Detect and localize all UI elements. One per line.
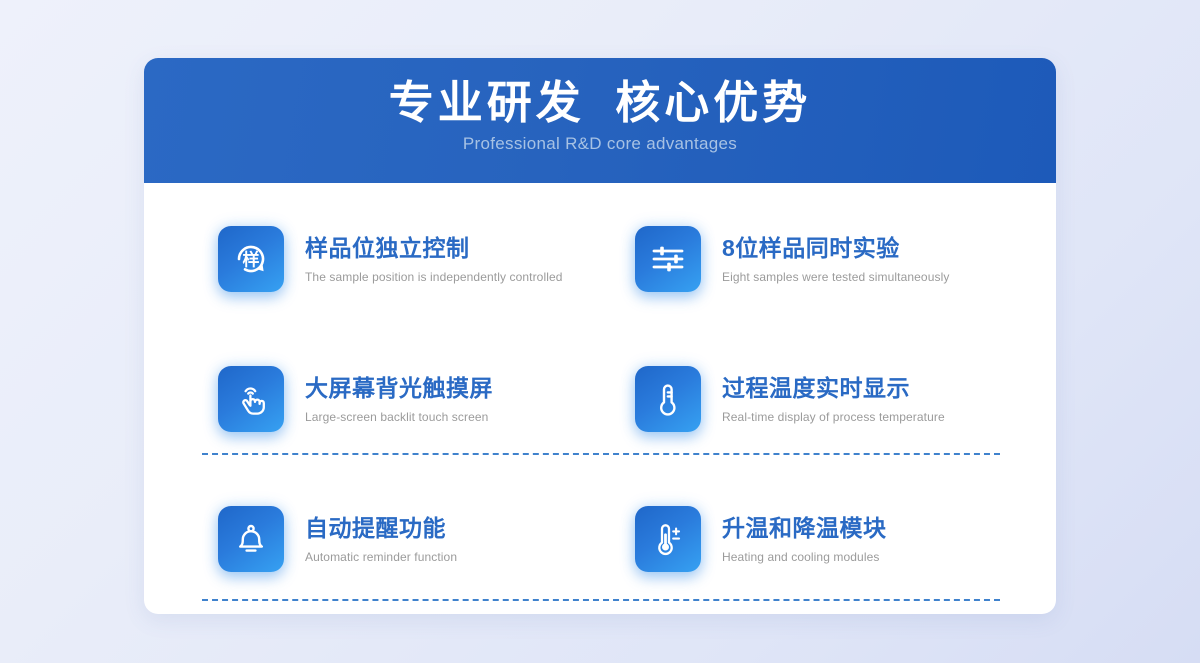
feature-item-heating-cooling[interactable]: 升温和降温模块 Heating and cooling modules <box>600 506 1056 572</box>
divider-2 <box>202 599 1000 601</box>
feature-title: 样品位独立控制 <box>305 234 563 263</box>
thermometer-plus-minus-icon <box>635 506 701 572</box>
svg-text:样: 样 <box>243 250 260 270</box>
feature-text: 8位样品同时实验 Eight samples were tested simul… <box>722 234 949 284</box>
feature-subtitle: Large-screen backlit touch screen <box>305 410 493 424</box>
feature-text: 自动提醒功能 Automatic reminder function <box>305 514 457 564</box>
feature-text: 过程温度实时显示 Real-time display of process te… <box>722 374 945 424</box>
feature-item-sample-position[interactable]: 样 样品位独立控制 The sample position is indepen… <box>144 226 600 292</box>
advantages-card: 专业研发 核心优势 Professional R&D core advantag… <box>144 58 1056 614</box>
sliders-icon <box>635 226 701 292</box>
feature-item-auto-reminder[interactable]: 自动提醒功能 Automatic reminder function <box>144 506 600 572</box>
feature-title: 自动提醒功能 <box>305 514 457 543</box>
feature-text: 升温和降温模块 Heating and cooling modules <box>722 514 887 564</box>
feature-row: 大屏幕背光触摸屏 Large-screen backlit touch scre… <box>144 329 1056 469</box>
feature-title: 升温和降温模块 <box>722 514 887 543</box>
feature-item-process-temperature[interactable]: 过程温度实时显示 Real-time display of process te… <box>600 366 1056 432</box>
divider-1 <box>202 453 1000 455</box>
feature-title: 过程温度实时显示 <box>722 374 945 403</box>
feature-title: 大屏幕背光触摸屏 <box>305 374 493 403</box>
thermometer-icon <box>635 366 701 432</box>
feature-subtitle: Heating and cooling modules <box>722 550 887 564</box>
feature-subtitle: Eight samples were tested simultaneously <box>722 270 949 284</box>
page-subtitle: Professional R&D core advantages <box>144 130 1056 154</box>
bell-icon <box>218 506 284 572</box>
feature-item-touch-screen[interactable]: 大屏幕背光触摸屏 Large-screen backlit touch scre… <box>144 366 600 432</box>
feature-title: 8位样品同时实验 <box>722 234 949 263</box>
feature-subtitle: Automatic reminder function <box>305 550 457 564</box>
card-header: 专业研发 核心优势 Professional R&D core advantag… <box>144 58 1056 183</box>
feature-text: 样品位独立控制 The sample position is independe… <box>305 234 563 284</box>
feature-subtitle: The sample position is independently con… <box>305 270 563 284</box>
feature-row: 样 样品位独立控制 The sample position is indepen… <box>144 189 1056 329</box>
page-title: 专业研发 核心优势 <box>144 58 1056 130</box>
touch-hand-icon <box>218 366 284 432</box>
features-grid: 样 样品位独立控制 The sample position is indepen… <box>144 189 1056 609</box>
sample-rotate-icon: 样 <box>218 226 284 292</box>
feature-text: 大屏幕背光触摸屏 Large-screen backlit touch scre… <box>305 374 493 424</box>
feature-row: 自动提醒功能 Automatic reminder function <box>144 469 1056 609</box>
feature-subtitle: Real-time display of process temperature <box>722 410 945 424</box>
feature-item-eight-samples[interactable]: 8位样品同时实验 Eight samples were tested simul… <box>600 226 1056 292</box>
